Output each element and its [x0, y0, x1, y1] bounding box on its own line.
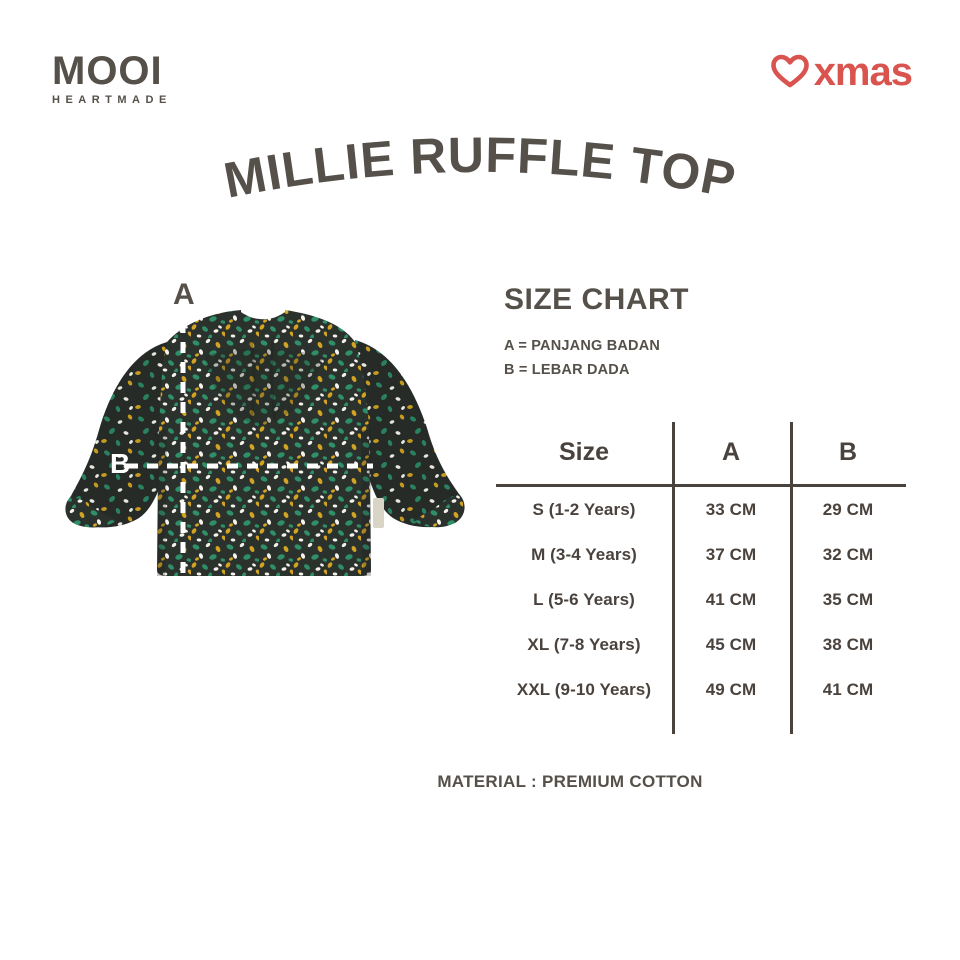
- table-row: M (3-4 Years) 37 CM 32 CM: [496, 532, 906, 577]
- column-header-b: B: [790, 420, 906, 486]
- size-chart-legend: A = PANJANG BADAN B = LEBAR DADA: [504, 335, 924, 383]
- legend-item-b: B = LEBAR DADA: [504, 359, 924, 383]
- cell-size: S (1-2 Years): [496, 486, 672, 533]
- cell-size: XL (7-8 Years): [496, 622, 672, 667]
- table-header-row: Size A B: [496, 420, 906, 486]
- column-header-a: A: [672, 420, 790, 486]
- measure-label-b: B: [110, 448, 130, 480]
- page-title: MILLIE RUFFLE TOP: [0, 132, 960, 212]
- brand-tagline: HEARTMADE: [52, 94, 172, 106]
- table-row: L (5-6 Years) 41 CM 35 CM: [496, 577, 906, 622]
- legend-item-a: A = PANJANG BADAN: [504, 335, 924, 359]
- cell-b: 35 CM: [790, 577, 906, 622]
- cell-b: 41 CM: [790, 667, 906, 712]
- material-note-text: MATERIAL : PREMIUM COTTON: [257, 772, 702, 792]
- cell-a: 49 CM: [672, 667, 790, 712]
- cell-size: XXL (9-10 Years): [496, 667, 672, 712]
- heart-icon: [770, 52, 810, 92]
- table-divider-1: [672, 422, 675, 734]
- table-row: XL (7-8 Years) 45 CM 38 CM: [496, 622, 906, 667]
- cell-b: 38 CM: [790, 622, 906, 667]
- cell-a: 33 CM: [672, 486, 790, 533]
- size-chart-table: Size A B S (1-2 Years) 33 CM 29 CM M (3-…: [496, 420, 916, 740]
- care-label-tag: [373, 498, 384, 528]
- page-title-text: MILLIE RUFFLE TOP: [219, 127, 740, 209]
- brand-name: MOOI: [52, 52, 172, 90]
- cell-a: 45 CM: [672, 622, 790, 667]
- measure-label-a: A: [173, 278, 195, 312]
- product-image: [55, 270, 485, 610]
- cell-size: L (5-6 Years): [496, 577, 672, 622]
- material-note: MATERIAL : PREMIUM COTTON: [0, 772, 960, 792]
- xmas-label: xmas: [814, 52, 912, 92]
- cell-a: 37 CM: [672, 532, 790, 577]
- column-header-size: Size: [496, 420, 672, 486]
- cell-b: 32 CM: [790, 532, 906, 577]
- size-chart-heading: SIZE CHART: [504, 283, 924, 317]
- cell-a: 41 CM: [672, 577, 790, 622]
- cell-size: M (3-4 Years): [496, 532, 672, 577]
- table-row: S (1-2 Years) 33 CM 29 CM: [496, 486, 906, 533]
- size-chart-page: MOOI HEARTMADE xmas MILLIE RUFFLE TOP: [0, 0, 960, 960]
- size-chart-panel: SIZE CHART A = PANJANG BADAN B = LEBAR D…: [504, 283, 924, 383]
- svg-text:MILLIE RUFFLE TOP: MILLIE RUFFLE TOP: [219, 127, 740, 209]
- table-divider-2: [790, 422, 793, 734]
- cell-b: 29 CM: [790, 486, 906, 533]
- xmas-logo: xmas: [770, 52, 912, 92]
- table-row: XXL (9-10 Years) 49 CM 41 CM: [496, 667, 906, 712]
- brand-logo: MOOI HEARTMADE: [52, 52, 172, 106]
